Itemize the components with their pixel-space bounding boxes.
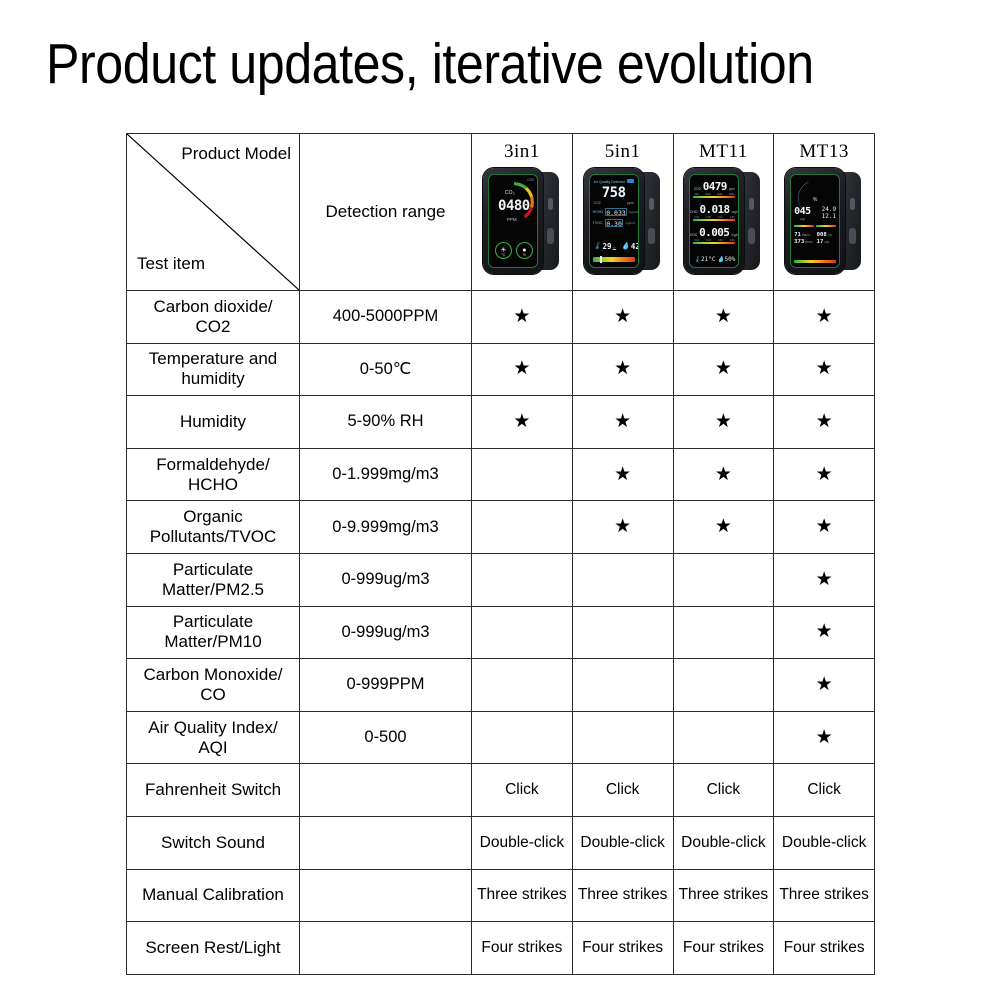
product-name-label: 3in1 bbox=[504, 140, 540, 164]
water-drop-icon: 💧 bbox=[717, 256, 724, 263]
table-row: ParticulateMatter/PM100-999ug/m3★ bbox=[127, 606, 875, 659]
measurement-cell: 17AQI bbox=[817, 239, 837, 245]
temp-humidity-row: 🌡 29°C 💧 42% bbox=[593, 242, 639, 251]
device-front-body: % 045 AQI 24.912.1 71PM2.5008CO373PM1017… bbox=[785, 168, 845, 274]
test-item-cell: Fahrenheit Switch bbox=[127, 764, 300, 817]
empty-cell bbox=[673, 659, 774, 712]
feature-value-cell: Four strikes bbox=[572, 922, 673, 975]
support-star-icon: ★ bbox=[774, 659, 875, 712]
device-usb-port bbox=[547, 228, 554, 244]
support-star-icon: ★ bbox=[774, 606, 875, 659]
air-quality-monitor-3in1: CO2 CO₂ 0480 PPM ☀°C ●% bbox=[481, 166, 563, 278]
air-quality-monitor-mt11: CO2 0479 ppm 400100020005000 HCHO 0.018 … bbox=[682, 166, 764, 278]
detection-range-cell: 0-1.999mg/m3 bbox=[300, 448, 472, 501]
support-star-icon: ★ bbox=[774, 501, 875, 554]
support-star-icon: ★ bbox=[472, 343, 573, 396]
feature-value-cell: Three strikes bbox=[472, 869, 573, 922]
table-row: Manual CalibrationThree strikesThree str… bbox=[127, 869, 875, 922]
tvoc-row: TVOC 0.005 mg/m3 0.000.300.609.99 bbox=[693, 226, 735, 245]
detection-range-cell: 0-50℃ bbox=[300, 343, 472, 396]
co2-label: CO2 bbox=[594, 201, 601, 205]
empty-cell bbox=[472, 606, 573, 659]
table-row: Carbon dioxide/CO2400-5000PPM★★★★ bbox=[127, 291, 875, 344]
support-star-icon: ★ bbox=[572, 343, 673, 396]
test-item-cell: Manual Calibration bbox=[127, 869, 300, 922]
empty-cell bbox=[572, 553, 673, 606]
detection-range-cell bbox=[300, 816, 472, 869]
product-comparison-table: Product Model Test item Detection range … bbox=[126, 133, 875, 975]
detection-range-cell: 0-500 bbox=[300, 711, 472, 764]
product-header-5in1[interactable]: 5in1 Air Quality Detector 758 CO2 ppm HC… bbox=[572, 134, 673, 291]
table-row: Carbon Monoxide/CO0-999PPM★ bbox=[127, 659, 875, 712]
water-drop-icon: 💧 bbox=[621, 242, 630, 251]
device-power-button bbox=[850, 198, 855, 210]
test-item-cell: OrganicPollutants/TVOC bbox=[127, 501, 300, 554]
feature-value-cell: Double-click bbox=[572, 816, 673, 869]
device-power-button bbox=[548, 198, 553, 210]
empty-cell bbox=[472, 553, 573, 606]
support-star-icon: ★ bbox=[774, 343, 875, 396]
air-quality-scale-bar bbox=[794, 260, 836, 263]
support-star-icon: ★ bbox=[572, 291, 673, 344]
device-screen: CO2 CO₂ 0480 PPM ☀°C ●% bbox=[488, 174, 538, 268]
measurement-cell: 71PM2.5 bbox=[794, 232, 814, 238]
support-star-icon: ★ bbox=[572, 396, 673, 449]
page-root: Product updates, iterative evolution Pro… bbox=[0, 0, 1000, 1000]
feature-value-cell: Three strikes bbox=[774, 869, 875, 922]
co2-unit: PPM bbox=[507, 217, 517, 222]
support-star-icon: ★ bbox=[774, 291, 875, 344]
support-star-icon: ★ bbox=[472, 396, 573, 449]
detection-range-cell: 400-5000PPM bbox=[300, 291, 472, 344]
device-front-body: CO2 0479 ppm 400100020005000 HCHO 0.018 … bbox=[684, 168, 744, 274]
humidity-icon: ●% bbox=[516, 242, 533, 259]
device-screen: % 045 AQI 24.912.1 71PM2.5008CO373PM1017… bbox=[790, 174, 840, 268]
device-screen: CO2 0479 ppm 400100020005000 HCHO 0.018 … bbox=[689, 174, 739, 268]
air-quality-scale-bar bbox=[593, 257, 635, 262]
table-row: OrganicPollutants/TVOC0-9.999mg/m3★★★ bbox=[127, 501, 875, 554]
product-name-label: MT11 bbox=[699, 140, 748, 164]
secondary-readings: 24.912.1 bbox=[822, 206, 836, 220]
temperature-icon: ☀°C bbox=[495, 242, 512, 259]
test-item-cell: Carbon dioxide/CO2 bbox=[127, 291, 300, 344]
device-usb-port bbox=[648, 228, 655, 244]
device-power-button bbox=[649, 198, 654, 210]
test-item-cell: ParticulateMatter/PM10 bbox=[127, 606, 300, 659]
screen-brand-mark: CO2 bbox=[527, 178, 534, 182]
page-title: Product updates, iterative evolution bbox=[46, 33, 856, 95]
feature-value-cell: Four strikes bbox=[673, 922, 774, 975]
air-quality-monitor-mt13: % 045 AQI 24.912.1 71PM2.5008CO373PM1017… bbox=[783, 166, 865, 278]
device-front-body: Air Quality Detector 758 CO2 ppm HCHO 0.… bbox=[584, 168, 644, 274]
detection-range-cell: 0-9.999mg/m3 bbox=[300, 501, 472, 554]
aqi-primary-reading: 045 AQI bbox=[794, 206, 811, 221]
scale-bars bbox=[794, 225, 836, 227]
table-row: Temperature andhumidity0-50℃★★★★ bbox=[127, 343, 875, 396]
screen-header-text: Air Quality Detector bbox=[594, 180, 625, 184]
co2-label: CO₂ bbox=[505, 190, 515, 196]
device-front-body: CO2 CO₂ 0480 PPM ☀°C ●% bbox=[483, 168, 543, 274]
support-star-icon: ★ bbox=[774, 553, 875, 606]
device-power-button bbox=[749, 198, 754, 210]
detection-range-cell: 5-90% RH bbox=[300, 396, 472, 449]
empty-cell bbox=[572, 711, 673, 764]
feature-value-cell: Double-click bbox=[673, 816, 774, 869]
temperature-reading: 🌡 29°C bbox=[593, 242, 617, 251]
tvoc-row: TVOC 0.30 mg/m3 bbox=[593, 219, 635, 227]
co2-unit: ppm bbox=[627, 201, 634, 205]
test-item-cell: Screen Rest/Light bbox=[127, 922, 300, 975]
support-star-icon: ★ bbox=[774, 711, 875, 764]
feature-value-cell: Double-click bbox=[774, 816, 875, 869]
support-star-icon: ★ bbox=[774, 448, 875, 501]
table-row: Humidity5-90% RH★★★★ bbox=[127, 396, 875, 449]
support-star-icon: ★ bbox=[472, 291, 573, 344]
feature-value-cell: Four strikes bbox=[472, 922, 573, 975]
device-usb-port bbox=[849, 228, 856, 244]
humidity-reading: 💧50% bbox=[717, 256, 735, 263]
empty-cell bbox=[472, 501, 573, 554]
co2-row: CO2 0479 ppm 400100020005000 bbox=[693, 180, 735, 199]
co2-value: 0480 bbox=[493, 198, 535, 214]
detection-range-cell: 0-999ug/m3 bbox=[300, 553, 472, 606]
detection-range-cell: 0-999ug/m3 bbox=[300, 606, 472, 659]
device-screen: Air Quality Detector 758 CO2 ppm HCHO 0.… bbox=[589, 174, 639, 268]
detection-range-cell bbox=[300, 764, 472, 817]
test-item-cell: Formaldehyde/HCHO bbox=[127, 448, 300, 501]
humidity-reading: 💧 42% bbox=[621, 242, 639, 251]
feature-value-cell: Four strikes bbox=[774, 922, 875, 975]
table-row: Switch SoundDouble-clickDouble-clickDoub… bbox=[127, 816, 875, 869]
product-name-label: MT13 bbox=[799, 140, 849, 164]
table-header-row: Product Model Test item Detection range … bbox=[127, 134, 875, 291]
empty-cell bbox=[472, 448, 573, 501]
table-row: ParticulateMatter/PM2.50-999ug/m3★ bbox=[127, 553, 875, 606]
support-star-icon: ★ bbox=[774, 396, 875, 449]
feature-value-cell: Three strikes bbox=[572, 869, 673, 922]
support-star-icon: ★ bbox=[673, 448, 774, 501]
corner-header-cell: Product Model Test item bbox=[127, 134, 300, 291]
detection-range-cell bbox=[300, 869, 472, 922]
feature-value-cell: Click bbox=[472, 764, 573, 817]
detection-range-cell: 0-999PPM bbox=[300, 659, 472, 712]
hcho-row: HCHO 0.033 mg/m3 bbox=[593, 208, 635, 216]
product-header-mt11[interactable]: MT11 CO2 0479 ppm 400100020005000 HCHO 0… bbox=[673, 134, 774, 291]
empty-cell bbox=[572, 659, 673, 712]
support-star-icon: ★ bbox=[673, 291, 774, 344]
empty-cell bbox=[472, 711, 573, 764]
test-item-cell: Humidity bbox=[127, 396, 300, 449]
support-star-icon: ★ bbox=[673, 343, 774, 396]
support-star-icon: ★ bbox=[673, 396, 774, 449]
table-row: Air Quality Index/AQI0-500★ bbox=[127, 711, 875, 764]
table-row: Fahrenheit SwitchClickClickClickClick bbox=[127, 764, 875, 817]
feature-value-cell: Click bbox=[673, 764, 774, 817]
test-item-cell: Switch Sound bbox=[127, 816, 300, 869]
test-item-cell: ParticulateMatter/PM2.5 bbox=[127, 553, 300, 606]
table-row: Formaldehyde/HCHO0-1.999mg/m3★★★ bbox=[127, 448, 875, 501]
screen-indicator-chip bbox=[627, 179, 634, 183]
thermometer-icon: 🌡 bbox=[593, 242, 602, 251]
detection-range-cell bbox=[300, 922, 472, 975]
product-name-label: 5in1 bbox=[605, 140, 641, 164]
measurement-grid: 71PM2.5008CO373PM1017AQI bbox=[794, 232, 836, 245]
test-item-cell: Carbon Monoxide/CO bbox=[127, 659, 300, 712]
empty-cell bbox=[673, 606, 774, 659]
co2-value: 758 bbox=[590, 185, 638, 201]
empty-cell bbox=[472, 659, 573, 712]
feature-value-cell: Three strikes bbox=[673, 869, 774, 922]
test-item-cell: Air Quality Index/AQI bbox=[127, 711, 300, 764]
support-star-icon: ★ bbox=[572, 501, 673, 554]
product-header-mt13[interactable]: MT13 % 045 AQI 24.912.1 bbox=[774, 134, 875, 291]
product-model-label: Product Model bbox=[181, 144, 291, 164]
product-header-3in1[interactable]: 3in1 CO2 CO₂ 0480 PPM ☀°C ●% bbox=[472, 134, 573, 291]
empty-cell bbox=[673, 711, 774, 764]
feature-value-cell: Click bbox=[774, 764, 875, 817]
temperature-reading: 🌡21°C bbox=[693, 256, 715, 263]
thermometer-icon: 🌡 bbox=[693, 256, 701, 263]
feature-value-cell: Click bbox=[572, 764, 673, 817]
temp-humidity-row: 🌡21°C 💧50% bbox=[693, 256, 735, 263]
table-row: Screen Rest/LightFour strikesFour strike… bbox=[127, 922, 875, 975]
detection-range-header: Detection range bbox=[300, 134, 472, 291]
empty-cell bbox=[572, 606, 673, 659]
support-star-icon: ★ bbox=[572, 448, 673, 501]
support-star-icon: ★ bbox=[673, 501, 774, 554]
measurement-cell: 008CO bbox=[817, 232, 837, 238]
test-item-label: Test item bbox=[137, 254, 205, 274]
aqi-gauge-label: % bbox=[791, 197, 839, 203]
air-quality-monitor-5in1: Air Quality Detector 758 CO2 ppm HCHO 0.… bbox=[582, 166, 664, 278]
device-usb-port bbox=[748, 228, 755, 244]
test-item-cell: Temperature andhumidity bbox=[127, 343, 300, 396]
empty-cell bbox=[673, 553, 774, 606]
measurement-cell: 373PM10 bbox=[794, 239, 814, 245]
feature-value-cell: Double-click bbox=[472, 816, 573, 869]
hcho-row: HCHO 0.018 mg/m3 0.000.050.101.99 bbox=[693, 203, 735, 222]
